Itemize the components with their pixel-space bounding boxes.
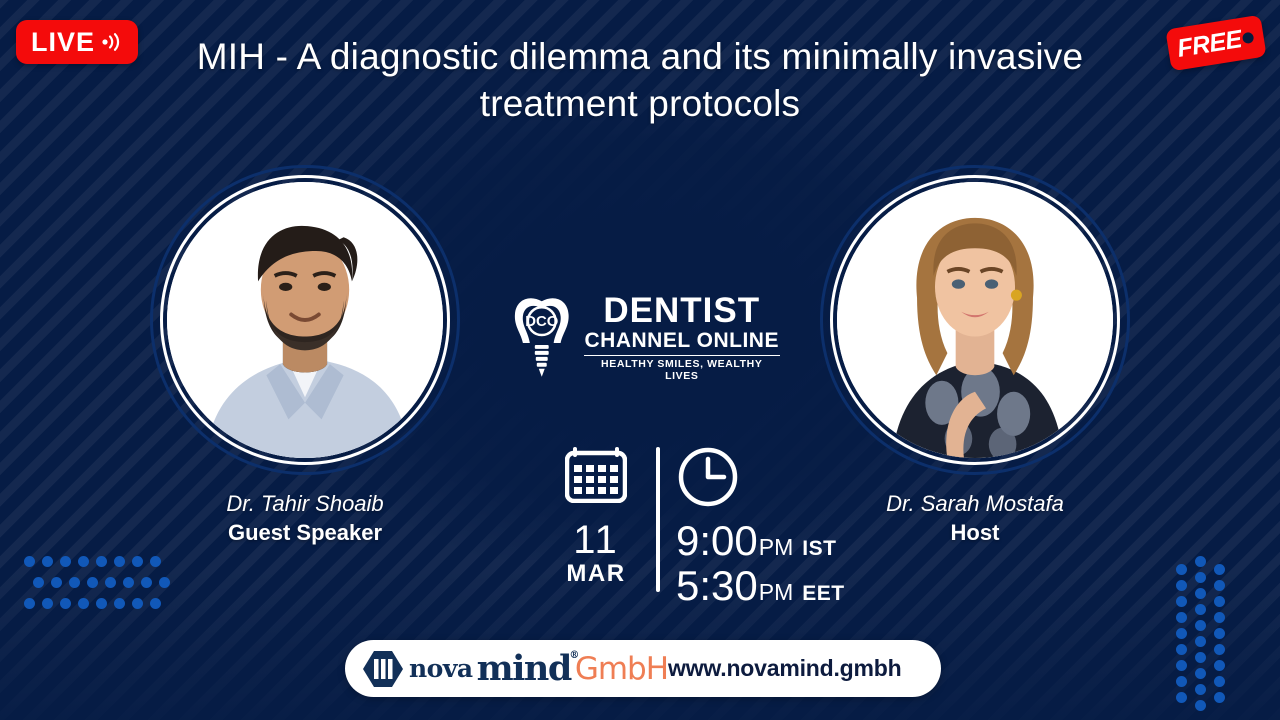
registered-mark: ® bbox=[569, 650, 578, 661]
schedule-divider bbox=[656, 447, 660, 592]
website-url: www.novamind.gmbh bbox=[668, 655, 901, 682]
tooth-implant-icon: DCO bbox=[510, 295, 574, 381]
event-day: 11 bbox=[573, 519, 619, 561]
novamind-logo: nova mind® GmbH bbox=[361, 647, 668, 691]
free-badge-label: FREE bbox=[1176, 27, 1244, 62]
event-month: MAR bbox=[566, 561, 625, 587]
date-column: 11 MAR bbox=[540, 445, 652, 587]
calendar-icon bbox=[565, 445, 627, 503]
time-column: 9:00 PM IST 5:30 PM EET bbox=[676, 445, 845, 609]
host-name: Dr. Sarah Mostafa bbox=[810, 491, 1140, 517]
footer-bar: nova mind® GmbH www.novamind.gmbh bbox=[345, 640, 941, 697]
time-zone-2: EET bbox=[802, 582, 844, 606]
speaker-avatar bbox=[167, 182, 443, 458]
clock-icon bbox=[676, 445, 740, 509]
dco-logo: DCO DENTIST CHANNEL ONLINE HEALTHY SMILE… bbox=[510, 288, 780, 388]
host-portrait-illustration bbox=[837, 182, 1113, 458]
live-badge: LIVE bbox=[16, 20, 138, 64]
host-photo-frame bbox=[820, 165, 1130, 475]
speaker-photo-frame bbox=[150, 165, 460, 475]
time-row: 5:30 PM EET bbox=[676, 563, 845, 608]
logo-gmbh-text: GmbH bbox=[575, 651, 668, 687]
dot-grid-left bbox=[24, 556, 184, 616]
live-badge-label: LIVE bbox=[31, 29, 95, 56]
speaker-name: Dr. Tahir Shoaib bbox=[140, 491, 470, 517]
hexagon-bars-icon bbox=[361, 647, 405, 691]
dco-wordmark: DENTIST CHANNEL ONLINE HEALTHY SMILES, W… bbox=[584, 294, 781, 382]
time-value-2: 5:30 bbox=[676, 563, 758, 608]
host-role: Host bbox=[810, 520, 1140, 546]
dot-grid-right bbox=[1176, 548, 1266, 708]
logo-nova-text: nova bbox=[409, 654, 473, 683]
price-tag-hole-icon bbox=[1242, 32, 1255, 45]
speaker-block: Dr. Tahir Shoaib Guest Speaker bbox=[140, 165, 470, 546]
free-badge: FREE bbox=[1165, 15, 1266, 72]
dco-line1: DENTIST bbox=[603, 294, 760, 328]
page-title: MIH - A diagnostic dilemma and its minim… bbox=[190, 34, 1090, 128]
webinar-poster: LIVE FREE MIH - A diagnostic dilemma and… bbox=[0, 0, 1280, 720]
dco-line2: CHANNEL ONLINE bbox=[585, 329, 779, 353]
broadcast-wave-icon bbox=[101, 31, 123, 53]
time-zone-1: IST bbox=[802, 537, 836, 561]
host-avatar bbox=[837, 182, 1113, 458]
time-value-1: 9:00 bbox=[676, 518, 758, 563]
logo-mind-text: mind® bbox=[477, 648, 571, 689]
schedule-block: 11 MAR 9:00 PM IST 5:30 PM EET bbox=[540, 445, 845, 609]
speaker-role: Guest Speaker bbox=[140, 520, 470, 546]
time-ampm-2: PM bbox=[759, 579, 794, 606]
speaker-portrait-illustration bbox=[167, 182, 443, 458]
host-block: Dr. Sarah Mostafa Host bbox=[810, 165, 1140, 546]
dco-tagline: HEALTHY SMILES, WEALTHY LIVES bbox=[584, 355, 781, 382]
time-ampm-1: PM bbox=[759, 534, 794, 561]
time-row: 9:00 PM IST bbox=[676, 518, 836, 563]
